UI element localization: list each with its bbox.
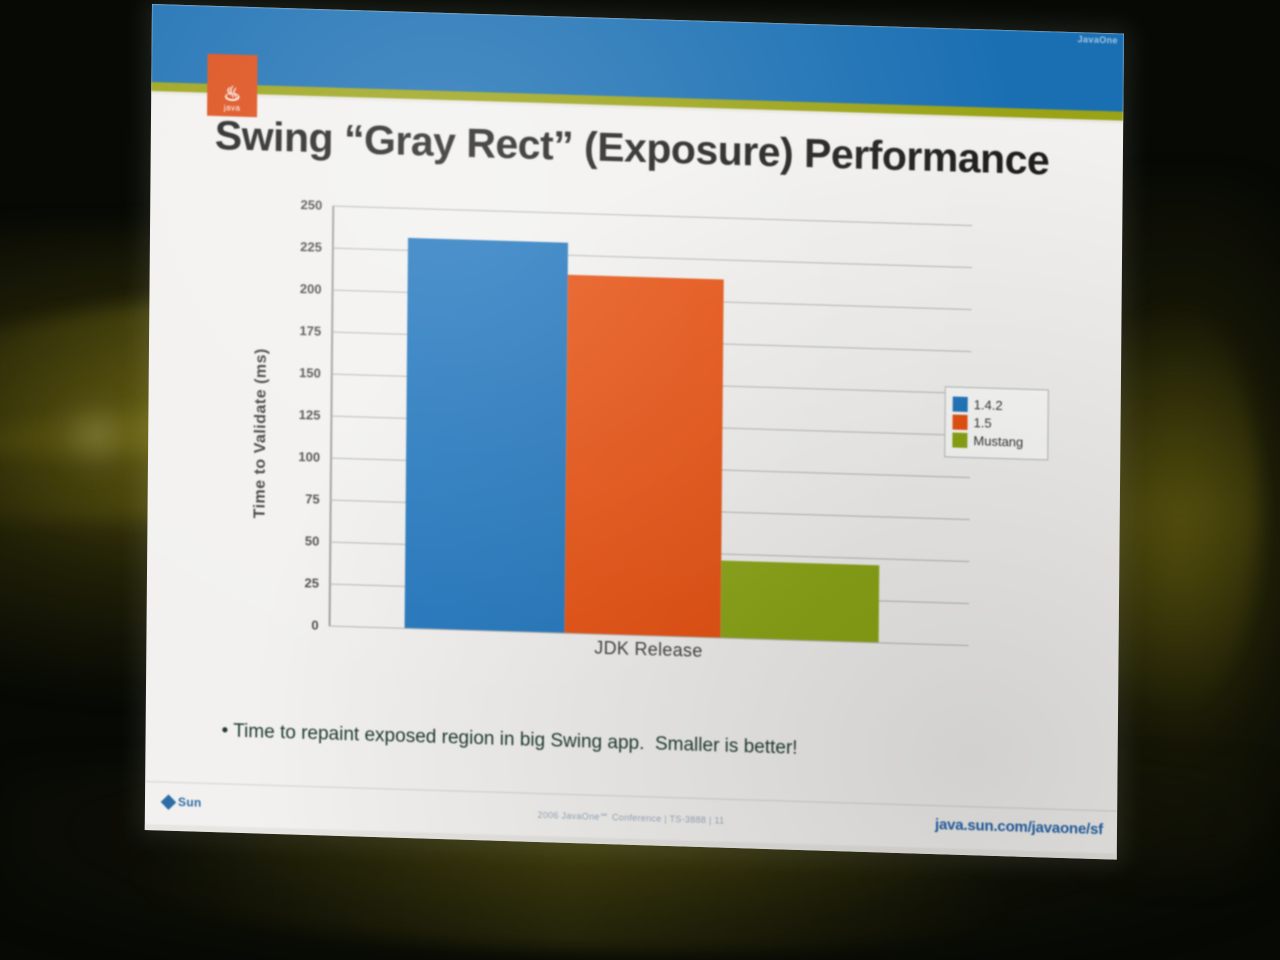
chart-plot-area <box>329 206 973 646</box>
bar-1-4-2 <box>405 238 568 633</box>
legend-item: 1.5 <box>952 415 1040 433</box>
y-tick-label: 50 <box>305 533 320 548</box>
legend-label: Mustang <box>973 433 1023 450</box>
legend-swatch <box>952 415 967 430</box>
legend-label: 1.4.2 <box>974 397 1003 413</box>
screenshot-stage: JavaOne ♨ java Swing “Gray Rect” (Exposu… <box>0 0 1280 960</box>
footer-url: java.sun.com/javaone/sf <box>935 816 1103 838</box>
y-tick-label: 250 <box>301 197 323 213</box>
y-tick-label: 25 <box>304 575 319 590</box>
javaone-corner-logo: JavaOne <box>1078 34 1118 45</box>
projection-screen: JavaOne ♨ java Swing “Gray Rect” (Exposu… <box>145 4 1124 860</box>
legend-swatch <box>952 433 967 448</box>
chart-y-axis-label: Time to Validate (ms) <box>249 253 274 614</box>
y-tick-label: 100 <box>298 449 320 465</box>
chart-y-axis-ticks: 2502252001751501251007550250 <box>277 204 329 625</box>
legend-item: 1.4.2 <box>953 397 1041 415</box>
bar-1-5 <box>565 275 724 638</box>
chart-bars <box>331 206 973 645</box>
y-tick-label: 175 <box>299 323 321 339</box>
y-tick-label: 75 <box>305 491 320 506</box>
chart-legend: 1.4.21.5Mustang <box>944 386 1049 460</box>
y-tick-label: 200 <box>300 281 322 297</box>
bar-chart: Time to Validate (ms) 250225200175150125… <box>254 203 1048 707</box>
slide-bullet-text: • Time to repaint exposed region in big … <box>222 720 798 760</box>
y-tick-label: 150 <box>299 365 321 381</box>
presentation-slide: JavaOne ♨ java Swing “Gray Rect” (Exposu… <box>145 4 1124 860</box>
java-cup-icon: ♨ <box>223 85 241 104</box>
ambient-highlight <box>40 380 150 490</box>
legend-item: Mustang <box>952 433 1040 451</box>
slide-title: Swing “Gray Rect” (Exposure) Performance <box>215 112 1095 186</box>
y-tick-label: 225 <box>300 239 322 255</box>
y-tick-label: 0 <box>311 618 318 633</box>
bar-mustang <box>721 560 880 642</box>
legend-swatch <box>953 397 968 412</box>
legend-label: 1.5 <box>973 415 991 431</box>
y-tick-label: 125 <box>299 407 321 423</box>
java-logo-badge: ♨ java <box>207 54 258 118</box>
